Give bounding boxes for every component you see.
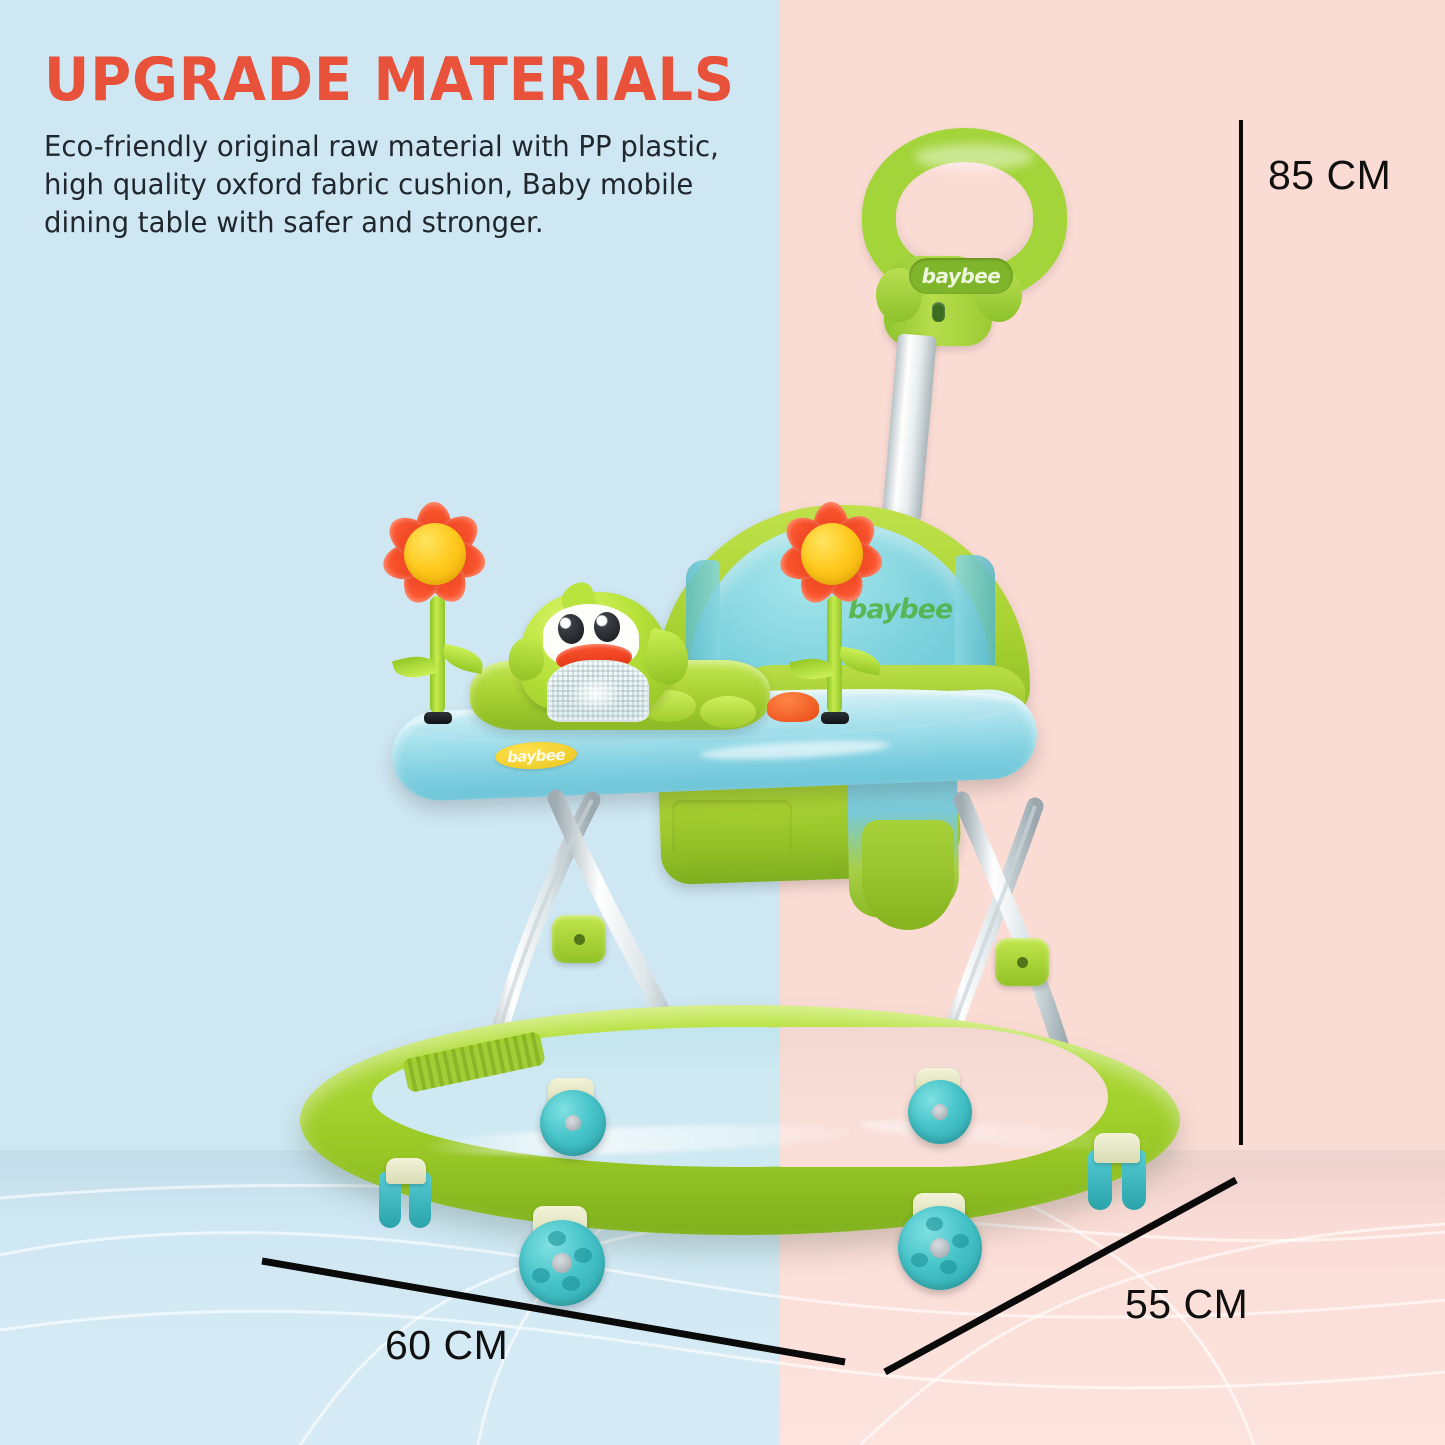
wheel-dot: [574, 1248, 592, 1263]
wheel-dot: [940, 1260, 957, 1274]
wheel-bracket: [386, 1158, 426, 1184]
wheel-hub: [552, 1253, 572, 1273]
wheel-dot: [562, 1276, 580, 1291]
product-image-baby-walker: baybee baybee baybee: [0, 0, 1445, 1445]
dimension-line-height: [1239, 120, 1243, 1145]
wheel-hub: [565, 1115, 581, 1131]
infographic-canvas: UPGRADE MATERIALS Eco-friendly original …: [0, 0, 1445, 1445]
wheel-bracket: [1094, 1133, 1140, 1163]
wheel-dot: [911, 1253, 928, 1267]
wheel-dot: [926, 1217, 943, 1231]
wheel-dot: [532, 1268, 550, 1283]
walker-base-ring: [300, 1005, 1180, 1235]
wheel-hub: [932, 1104, 948, 1120]
dimension-label-depth: 55 CM: [1125, 1281, 1248, 1328]
wheel-dot: [548, 1231, 566, 1246]
wheel-dot: [952, 1234, 969, 1248]
dimension-label-height: 85 CM: [1268, 152, 1391, 199]
frame-joint-right: [995, 938, 1049, 986]
dimension-label-width: 60 CM: [385, 1322, 508, 1369]
wheel-hub: [930, 1238, 950, 1258]
frame-joint-left: [552, 915, 606, 963]
